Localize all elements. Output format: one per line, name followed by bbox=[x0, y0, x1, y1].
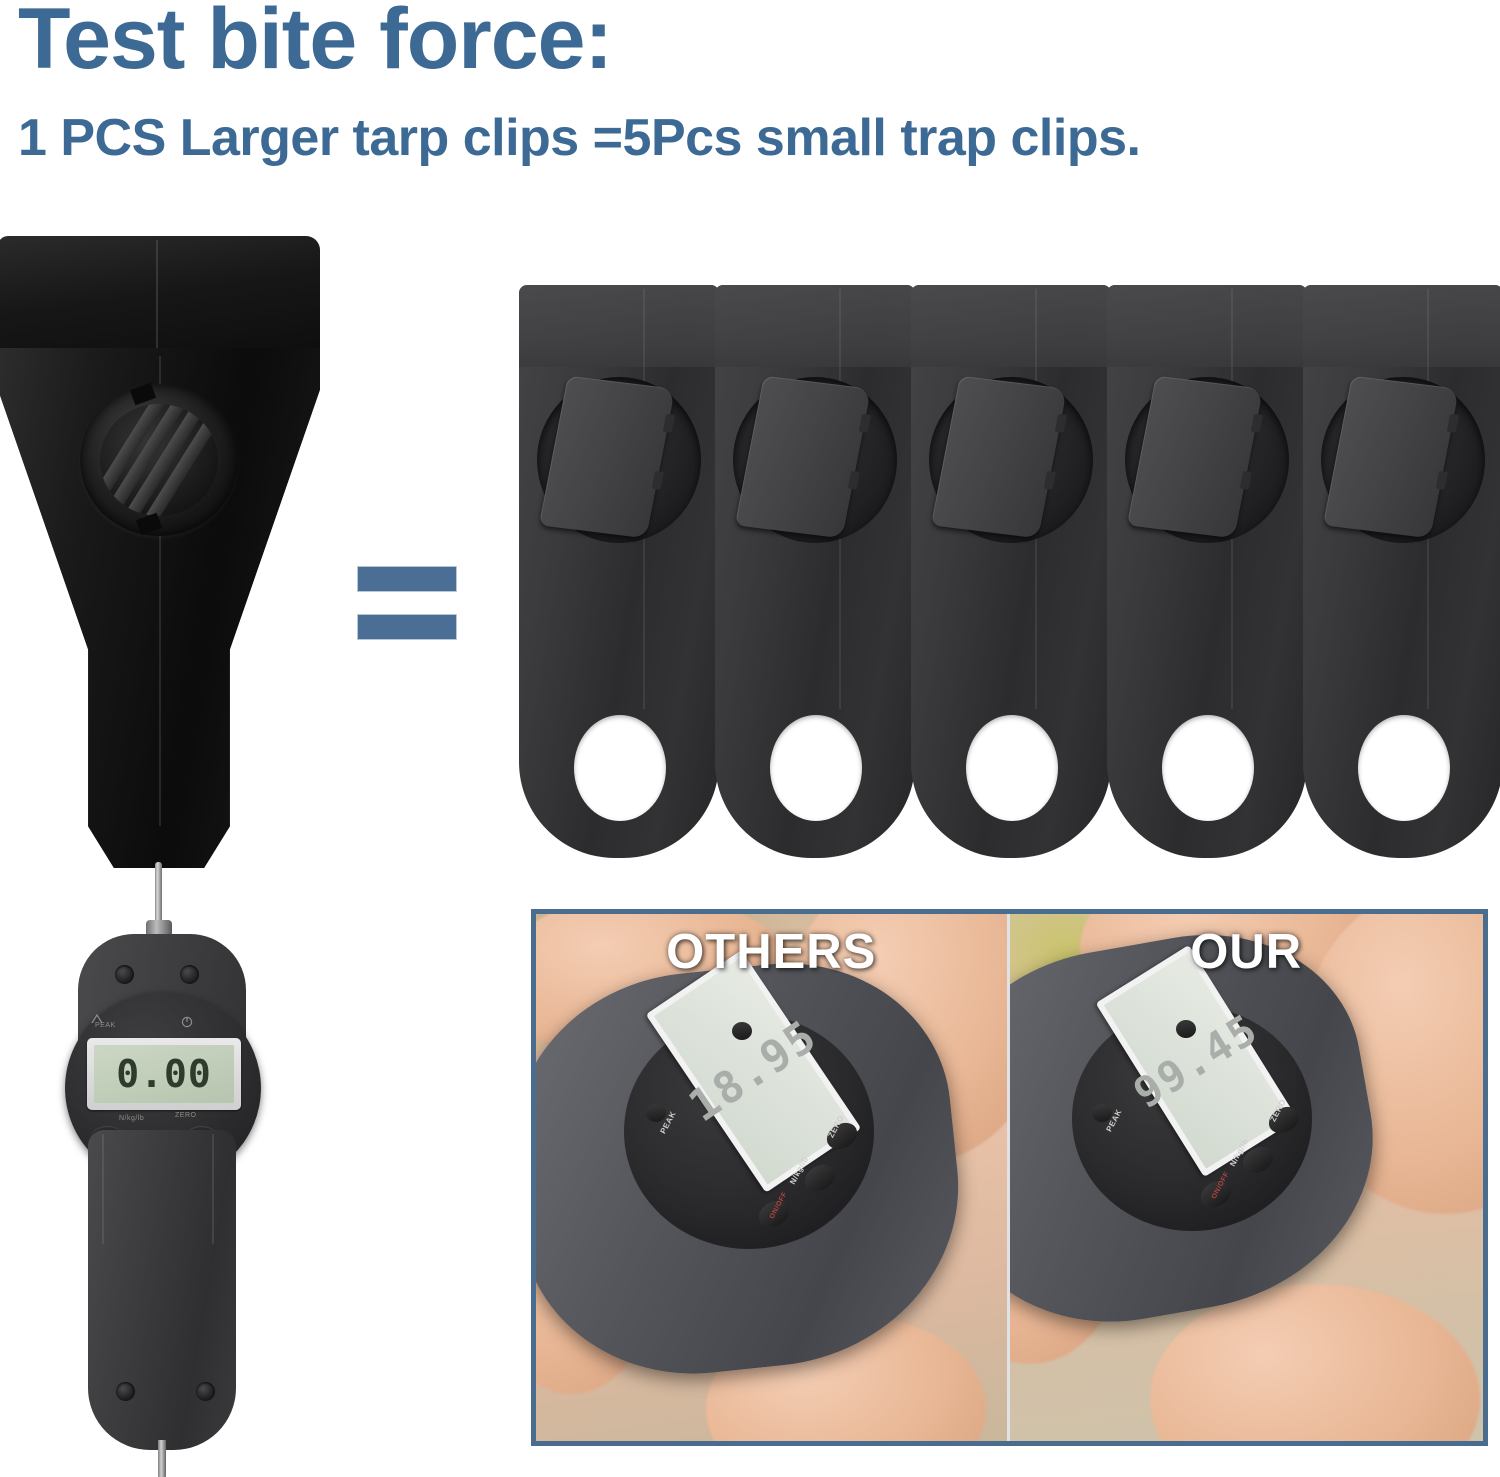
small-clip-top-shade bbox=[715, 285, 915, 367]
small-tarp-clip bbox=[519, 285, 719, 858]
large-tarp-clip-image bbox=[0, 236, 320, 866]
small-clip-hole bbox=[1358, 715, 1450, 821]
gauge-screw-left bbox=[115, 965, 134, 984]
small-clips-row bbox=[519, 285, 1500, 865]
infographic-canvas: Test bite force: 1 PCS Larger tarp clips… bbox=[0, 0, 1500, 1477]
gauge-screw-right bbox=[180, 965, 199, 984]
peak-arrow-icon bbox=[91, 1014, 103, 1024]
small-clip-top-shade bbox=[1107, 285, 1307, 367]
large-clip-head bbox=[0, 236, 320, 362]
gauge-body-screw-right bbox=[196, 1382, 215, 1401]
power-icon bbox=[181, 1016, 193, 1028]
others-reading: 18.95 bbox=[680, 1011, 827, 1133]
small-clip-hole bbox=[770, 715, 862, 821]
equals-bar-top bbox=[357, 566, 457, 592]
small-tarp-clip bbox=[1303, 285, 1500, 858]
gauge-lcd-frame: 0.00 bbox=[87, 1038, 241, 1110]
small-tarp-clip bbox=[1107, 285, 1307, 858]
equals-bar-bottom bbox=[357, 614, 457, 640]
small-clip-hole bbox=[966, 715, 1058, 821]
comparison-pane-others: 18.95 PEAK ZERO N/kg/lb ON/OFF OTHERS bbox=[536, 914, 1010, 1441]
small-clip-top-shade bbox=[519, 285, 719, 367]
small-tarp-clip bbox=[911, 285, 1111, 858]
comparison-pane-our: 99.45 PEAK ZERO N/kg/lb ON/OFF OUR bbox=[1010, 914, 1484, 1441]
gauge-grip-line-right bbox=[212, 1134, 214, 1244]
comparison-panel: 18.95 PEAK ZERO N/kg/lb ON/OFF OTHERS bbox=[531, 909, 1488, 1446]
large-clip-knob-notch-bottom bbox=[136, 513, 162, 536]
gauge-grip-line-left bbox=[102, 1134, 104, 1244]
small-clip-hole bbox=[1162, 715, 1254, 821]
small-clip-top-shade bbox=[1303, 285, 1500, 367]
gauge-probe bbox=[158, 1440, 166, 1477]
our-reading: 99.45 bbox=[1125, 1004, 1267, 1118]
page-title: Test bite force: bbox=[18, 0, 1488, 82]
others-caption: OTHERS bbox=[536, 924, 1007, 980]
small-clip-top-shade bbox=[911, 285, 1111, 367]
large-clip-knob bbox=[80, 384, 238, 536]
gauge-lcd: 0.00 bbox=[94, 1045, 234, 1103]
small-tarp-clip bbox=[715, 285, 915, 858]
gauge-body-screw-left bbox=[116, 1382, 135, 1401]
page-subtitle: 1 PCS Larger tarp clips =5Pcs small trap… bbox=[18, 112, 1488, 164]
small-clip-hole bbox=[574, 715, 666, 821]
gauge-reading: 0.00 bbox=[116, 1052, 212, 1096]
equals-sign bbox=[357, 566, 457, 666]
force-gauge-image: PEAK 0.00 N/kg/lb ZERO bbox=[62, 862, 312, 1477]
gauge-unit-label: N/kg/lb bbox=[119, 1115, 144, 1122]
others-peak-button[interactable] bbox=[646, 1104, 666, 1122]
gauge-zero-label: ZERO bbox=[175, 1112, 196, 1119]
our-power-button[interactable] bbox=[1176, 1020, 1196, 1038]
large-clip-knob-ribs bbox=[100, 404, 218, 516]
others-power-button[interactable] bbox=[732, 1022, 752, 1040]
our-caption: OUR bbox=[1010, 924, 1484, 980]
